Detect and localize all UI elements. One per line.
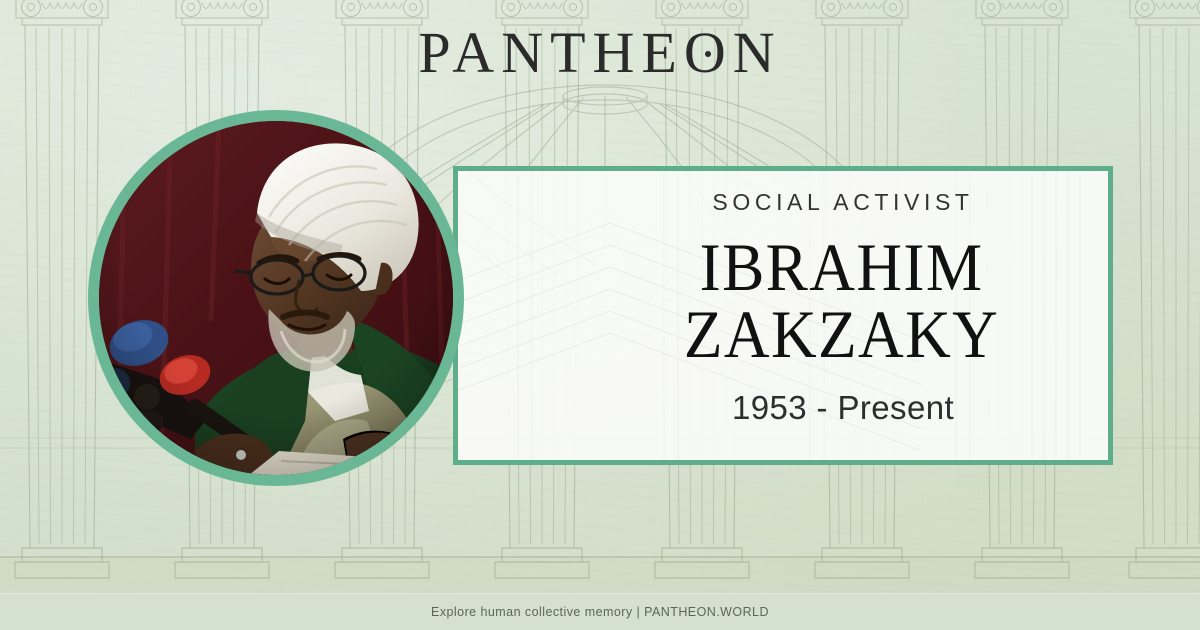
person-name-line-1: IBRAHIM	[684, 234, 999, 301]
person-info-card: SOCIAL ACTIVIST IBRAHIM ZAKZAKY 1953 - P…	[453, 166, 1113, 465]
pantheon-wordmark[interactable]: PANTHEON	[0, 24, 1200, 82]
wordmark-letter-o: O	[684, 24, 733, 82]
occupation-label: SOCIAL ACTIVIST	[712, 189, 973, 216]
person-name-line-2: ZAKZAKY	[684, 301, 999, 368]
portrait-photo-illustration	[99, 121, 453, 475]
person-name: IBRAHIM ZAKZAKY	[684, 234, 999, 369]
portrait-avatar[interactable]	[99, 121, 453, 475]
footer-tagline[interactable]: Explore human collective memory | PANTHE…	[0, 593, 1200, 630]
portrait-ring	[88, 110, 464, 486]
wordmark-part-after: N	[733, 20, 782, 85]
pantheon-profile-card: PANTHEON	[0, 0, 1200, 630]
wordmark-part-before: PANTHE	[418, 20, 683, 85]
lifespan-label: 1953 - Present	[732, 389, 954, 427]
card-content: SOCIAL ACTIVIST IBRAHIM ZAKZAKY 1953 - P…	[458, 189, 1108, 427]
